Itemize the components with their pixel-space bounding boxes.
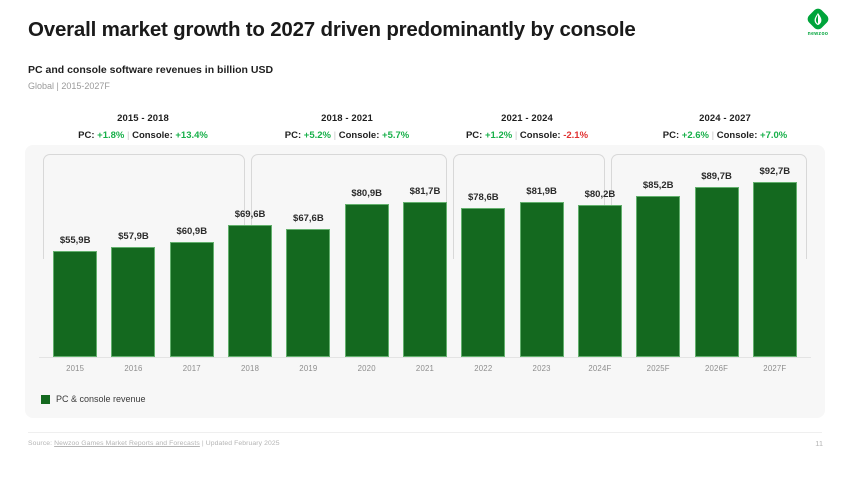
bar-group: $80,2B2024F xyxy=(578,145,622,357)
cagr-annotation-row: 2015 - 2018 PC: +1.8% | Console: +13.4% … xyxy=(25,112,825,148)
bar[interactable] xyxy=(170,242,214,357)
bar-value-label: $81,9B xyxy=(512,186,572,197)
bar[interactable] xyxy=(345,204,389,357)
bar-value-label: $89,7B xyxy=(687,171,747,182)
cagr-pc-label: PC: xyxy=(285,130,301,141)
bar-chart-plot: $55,9B2015$57,9B2016$60,9B2017$69,6B2018… xyxy=(25,145,825,357)
bar[interactable] xyxy=(111,247,155,357)
chart-card: $55,9B2015$57,9B2016$60,9B2017$69,6B2018… xyxy=(25,145,825,418)
cagr-pc-label: PC: xyxy=(78,130,94,141)
source-link[interactable]: Newzoo Games Market Reports and Forecast… xyxy=(54,440,200,447)
cagr-pc-value: +2.6% xyxy=(682,130,709,141)
cagr-values: PC: +1.2% | Console: -2.1% xyxy=(427,128,627,143)
cagr-block-2015-2018: 2015 - 2018 PC: +1.8% | Console: +13.4% xyxy=(43,112,243,143)
chart-legend: PC & console revenue xyxy=(41,394,146,404)
slide-root: newzoo Overall market growth to 2027 dri… xyxy=(0,0,850,478)
page-number: 11 xyxy=(815,439,823,448)
cagr-separator: | xyxy=(334,130,336,141)
cagr-period-label: 2024 - 2027 xyxy=(625,112,825,125)
cagr-console-label: Console: xyxy=(339,130,380,141)
bar-value-label: $78,6B xyxy=(453,192,513,203)
cagr-values: PC: +5.2% | Console: +5.7% xyxy=(247,128,447,143)
bar-group: $92,7B2027F xyxy=(753,145,797,357)
newzoo-logo-wordmark: newzoo xyxy=(798,31,838,37)
cagr-pc-value: +5.2% xyxy=(304,130,331,141)
x-axis-tick-label: 2026F xyxy=(685,364,749,373)
x-axis-tick-label: 2017 xyxy=(160,364,224,373)
bar-group: $89,7B2026F xyxy=(695,145,739,357)
cagr-console-value: -2.1% xyxy=(563,130,588,141)
bar[interactable] xyxy=(753,182,797,357)
cagr-pc-value: +1.2% xyxy=(485,130,512,141)
bar-value-label: $92,7B xyxy=(745,166,805,177)
cagr-console-value: +7.0% xyxy=(760,130,787,141)
bar-group: $80,9B2020 xyxy=(345,145,389,357)
bar[interactable] xyxy=(520,202,564,357)
x-axis-tick-label: 2022 xyxy=(451,364,515,373)
bar-value-label: $57,9B xyxy=(103,231,163,242)
bar-group: $81,7B2021 xyxy=(403,145,447,357)
cagr-separator: | xyxy=(712,130,714,141)
bar[interactable] xyxy=(53,251,97,357)
bar-value-label: $80,2B xyxy=(570,189,630,200)
x-axis-tick-label: 2024F xyxy=(568,364,632,373)
bar-value-label: $55,9B xyxy=(45,235,105,246)
cagr-pc-label: PC: xyxy=(466,130,482,141)
newzoo-logo: newzoo xyxy=(798,8,838,44)
x-axis-tick-label: 2025F xyxy=(626,364,690,373)
bar-group: $81,9B2023 xyxy=(520,145,564,357)
bar[interactable] xyxy=(403,202,447,357)
cagr-block-2018-2021: 2018 - 2021 PC: +5.2% | Console: +5.7% xyxy=(247,112,447,143)
cagr-block-2024-2027: 2024 - 2027 PC: +2.6% | Console: +7.0% xyxy=(625,112,825,143)
cagr-values: PC: +1.8% | Console: +13.4% xyxy=(43,128,243,143)
x-axis-tick-label: 2023 xyxy=(510,364,574,373)
x-axis-tick-label: 2015 xyxy=(43,364,107,373)
bar-value-label: $67,6B xyxy=(278,213,338,224)
bar[interactable] xyxy=(636,196,680,357)
bar-group: $60,9B2017 xyxy=(170,145,214,357)
bar[interactable] xyxy=(695,187,739,357)
page-title: Overall market growth to 2027 driven pre… xyxy=(28,18,636,42)
bar[interactable] xyxy=(286,229,330,357)
cagr-pc-label: PC: xyxy=(663,130,679,141)
cagr-console-label: Console: xyxy=(717,130,758,141)
bar-value-label: $81,7B xyxy=(395,186,455,197)
chart-subtitle: PC and console software revenues in bill… xyxy=(28,64,273,76)
source-note: Source: Newzoo Games Market Reports and … xyxy=(28,440,280,447)
bar-group: $55,9B2015 xyxy=(53,145,97,357)
chart-scope: Global | 2015-2027F xyxy=(28,81,110,91)
cagr-period-label: 2018 - 2021 xyxy=(247,112,447,125)
bar-group: $67,6B2019 xyxy=(286,145,330,357)
legend-series-label: PC & console revenue xyxy=(56,394,146,404)
x-axis-tick-label: 2018 xyxy=(218,364,282,373)
cagr-console-label: Console: xyxy=(132,130,173,141)
footer-divider xyxy=(28,432,822,433)
x-axis-tick-label: 2020 xyxy=(335,364,399,373)
cagr-console-value: +13.4% xyxy=(175,130,208,141)
newzoo-logo-icon xyxy=(807,8,829,30)
chart-baseline xyxy=(39,357,811,358)
bar-value-label: $80,9B xyxy=(337,188,397,199)
bar-value-label: $60,9B xyxy=(162,226,222,237)
bar[interactable] xyxy=(578,205,622,357)
legend-color-swatch xyxy=(41,395,50,404)
x-axis-tick-label: 2019 xyxy=(276,364,340,373)
bar-value-label: $69,6B xyxy=(220,209,280,220)
bar-group: $57,9B2016 xyxy=(111,145,155,357)
cagr-console-label: Console: xyxy=(520,130,561,141)
cagr-console-value: +5.7% xyxy=(382,130,409,141)
source-suffix: | Updated February 2025 xyxy=(202,440,280,447)
bar-group: $78,6B2022 xyxy=(461,145,505,357)
bar-group: $69,6B2018 xyxy=(228,145,272,357)
bar-value-label: $85,2B xyxy=(628,180,688,191)
x-axis-tick-label: 2021 xyxy=(393,364,457,373)
bar[interactable] xyxy=(461,208,505,357)
cagr-separator: | xyxy=(515,130,517,141)
x-axis-tick-label: 2016 xyxy=(101,364,165,373)
cagr-pc-value: +1.8% xyxy=(97,130,124,141)
cagr-period-label: 2015 - 2018 xyxy=(43,112,243,125)
cagr-block-2021-2024: 2021 - 2024 PC: +1.2% | Console: -2.1% xyxy=(427,112,627,143)
bar[interactable] xyxy=(228,225,272,357)
x-axis-tick-label: 2027F xyxy=(743,364,807,373)
source-prefix: Source: xyxy=(28,440,52,447)
bar-group: $85,2B2025F xyxy=(636,145,680,357)
cagr-period-label: 2021 - 2024 xyxy=(427,112,627,125)
cagr-values: PC: +2.6% | Console: +7.0% xyxy=(625,128,825,143)
cagr-separator: | xyxy=(127,130,129,141)
